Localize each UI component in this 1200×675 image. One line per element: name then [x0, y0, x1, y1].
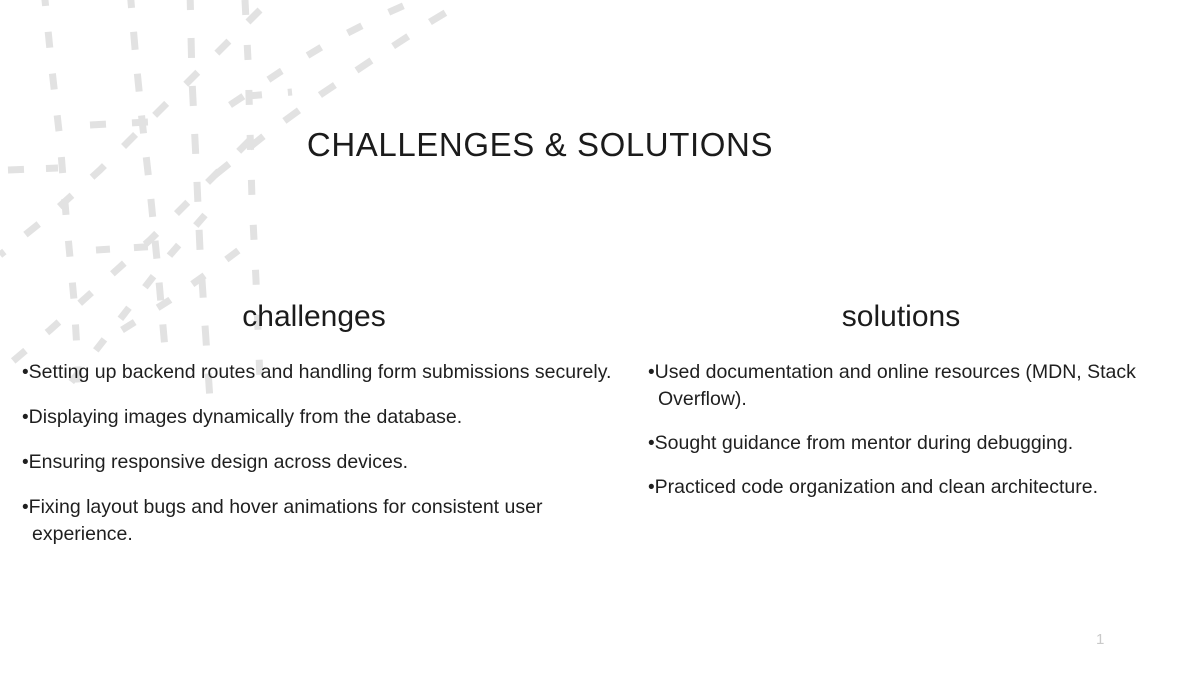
- list-item: •Ensuring responsive design across devic…: [22, 449, 626, 476]
- list-item: •Setting up backend routes and handling …: [22, 359, 626, 386]
- challenges-column: challenges •Setting up backend routes an…: [0, 300, 640, 630]
- list-item-text: Ensuring responsive design across device…: [29, 451, 408, 473]
- list-item-text: Displaying images dynamically from the d…: [29, 406, 463, 428]
- slide-title: CHALLENGES & SOLUTIONS: [0, 126, 1080, 164]
- list-item: •Fixing layout bugs and hover animations…: [22, 494, 626, 548]
- list-item-text: Fixing layout bugs and hover animations …: [29, 496, 543, 545]
- bullet-marker-icon: •: [22, 452, 29, 473]
- list-item-text: Practiced code organization and clean ar…: [655, 476, 1098, 498]
- bullet-marker-icon: •: [22, 407, 29, 428]
- bullet-marker-icon: •: [22, 362, 29, 383]
- bullet-marker-icon: •: [648, 433, 655, 454]
- challenges-list: •Setting up backend routes and handling …: [22, 359, 626, 548]
- list-item-text: Used documentation and online resources …: [655, 361, 1136, 410]
- bullet-marker-icon: •: [648, 362, 655, 383]
- solutions-heading: solutions: [642, 300, 1160, 333]
- list-item: •Displaying images dynamically from the …: [22, 404, 626, 431]
- solutions-list: •Used documentation and online resources…: [648, 359, 1160, 501]
- list-item-text: Setting up backend routes and handling f…: [29, 361, 612, 383]
- content-columns: challenges •Setting up backend routes an…: [0, 300, 1200, 630]
- solutions-column: solutions •Used documentation and online…: [640, 300, 1200, 630]
- slide-number: 1: [1096, 631, 1104, 648]
- list-item: •Practiced code organization and clean a…: [648, 474, 1160, 501]
- list-item-text: Sought guidance from mentor during debug…: [655, 432, 1073, 454]
- presentation-slide: CHALLENGES & SOLUTIONS challenges •Setti…: [0, 0, 1200, 675]
- bullet-marker-icon: •: [22, 497, 29, 518]
- challenges-heading: challenges: [2, 300, 626, 333]
- list-item: •Used documentation and online resources…: [648, 359, 1160, 413]
- list-item: •Sought guidance from mentor during debu…: [648, 430, 1160, 457]
- bullet-marker-icon: •: [648, 477, 655, 498]
